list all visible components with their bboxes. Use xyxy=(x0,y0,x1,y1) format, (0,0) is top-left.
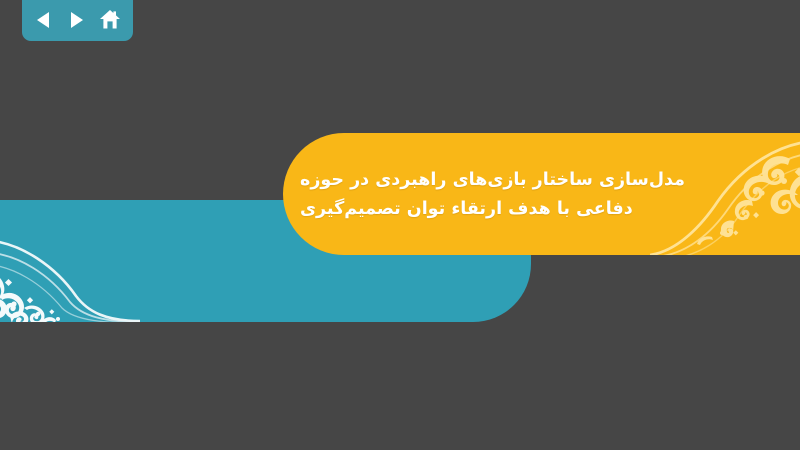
arabesque-islimi-corner-ornament xyxy=(0,222,140,322)
slide-title: مدل‌سازی ساختار بازی‌های راهبردی در حوزه… xyxy=(300,145,700,245)
slide-title-line-1: مدل‌سازی ساختار بازی‌های راهبردی در حوزه xyxy=(300,168,685,193)
triangle-right-icon xyxy=(67,10,85,30)
slide-navigation-bar xyxy=(22,0,133,41)
next-slide-button[interactable] xyxy=(67,9,87,31)
triangle-left-icon xyxy=(35,10,53,30)
slide-title-line-2: دفاعی با هدف ارتقاء توان تصمیم‌گیری xyxy=(300,197,633,222)
home-button[interactable] xyxy=(99,9,121,31)
previous-slide-button[interactable] xyxy=(34,9,54,31)
presentation-slide: مدل‌سازی ساختار بازی‌های راهبردی در حوزه… xyxy=(0,0,800,450)
home-icon xyxy=(99,9,121,30)
